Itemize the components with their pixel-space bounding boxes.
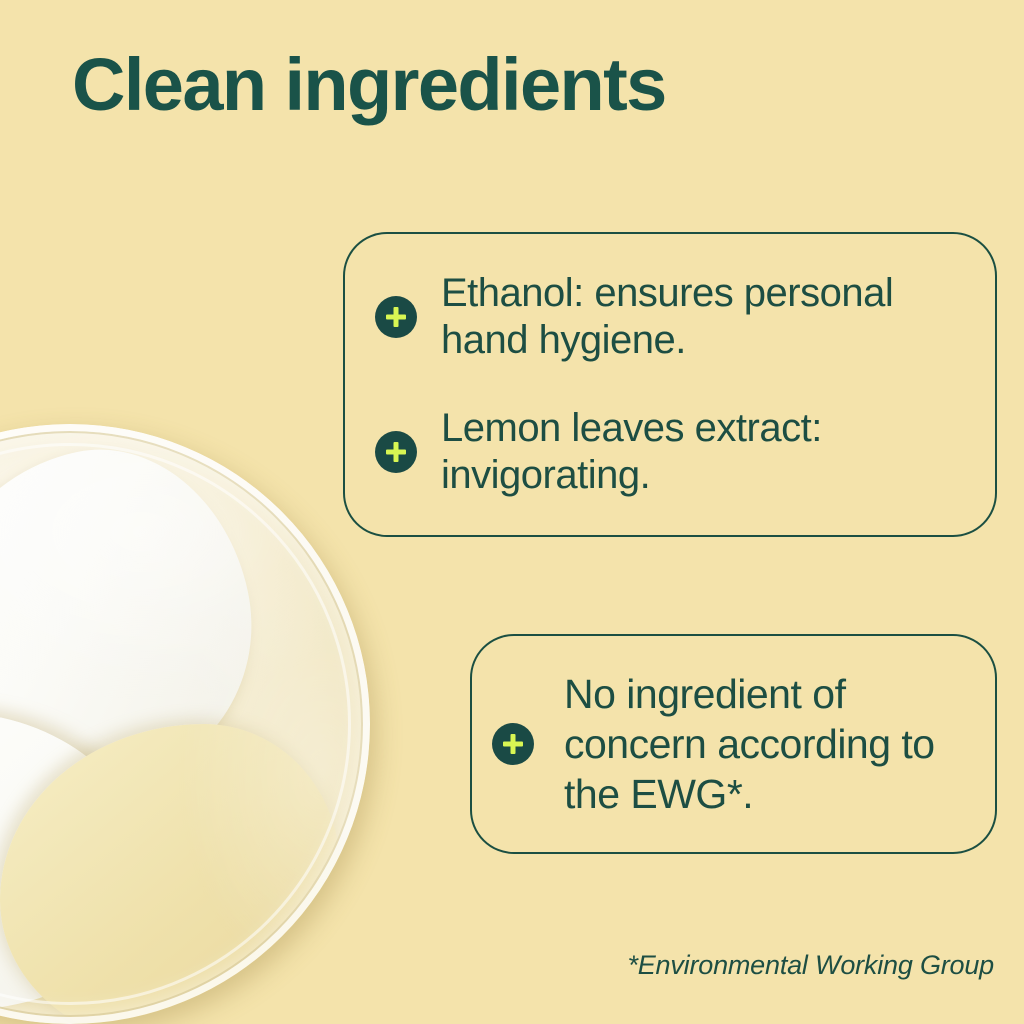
bullet-item-lemon-leaves: Lemon leaves extract: invigorating. [375,405,961,499]
bullet-item-ewg: No ingredient of concern according to th… [492,669,969,819]
plus-icon [492,723,534,765]
ewg-card: No ingredient of concern according to th… [470,634,997,854]
page-title: Clean ingredients [72,48,666,122]
bullet-item-ethanol: Ethanol: ensures personal hand hygiene. [375,270,961,364]
plus-icon [375,296,417,338]
ingredients-card: Ethanol: ensures personal hand hygiene. … [343,232,997,537]
bullet-label-ewg: No ingredient of concern according to th… [564,669,969,819]
product-photo [0,424,370,1024]
footnote: *Environmental Working Group [627,950,994,981]
bullet-label-lemon-leaves: Lemon leaves extract: invigorating. [441,405,961,499]
plus-icon [375,431,417,473]
clean-ingredients-poster: Clean ingredients Ethanol: ensures perso… [0,0,1024,1024]
bullet-label-ethanol: Ethanol: ensures personal hand hygiene. [441,270,961,364]
